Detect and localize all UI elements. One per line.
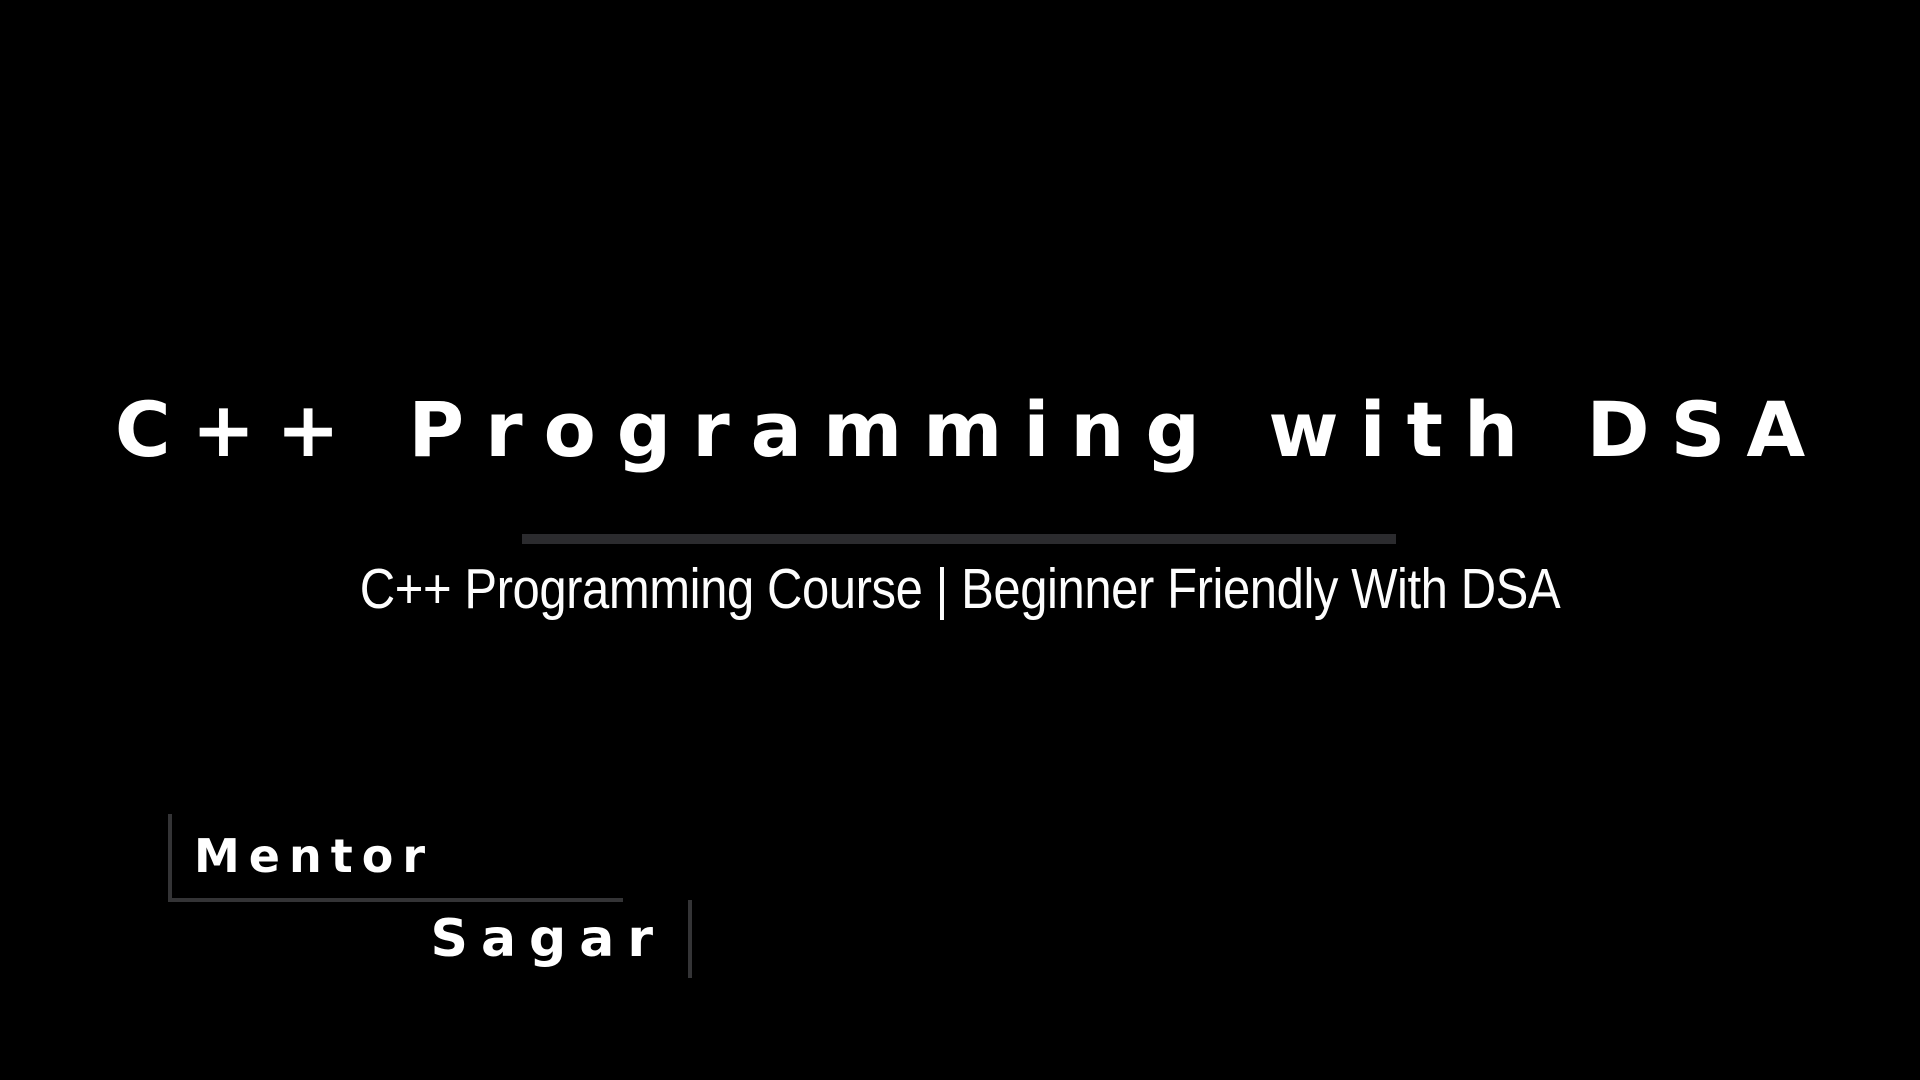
mentor-role-label: Mentor [194,830,434,882]
divider-bar [522,534,1396,544]
page-title: C++ Programming with DSA [0,384,1920,476]
title-divider [522,534,1396,544]
mentor-name-row: Sagar [168,900,692,978]
credit-block: Mentor Sagar [168,814,698,978]
title-slide: C++ Programming with DSA C++ Programming… [0,0,1920,1080]
title-block: C++ Programming with DSA [0,384,1920,476]
mentor-name-label: Sagar [418,909,667,969]
subtitle-block: C++ Programming Course | Beginner Friend… [0,556,1920,622]
mentor-role-row: Mentor [168,814,623,902]
page-subtitle: C++ Programming Course | Beginner Friend… [134,556,1785,622]
